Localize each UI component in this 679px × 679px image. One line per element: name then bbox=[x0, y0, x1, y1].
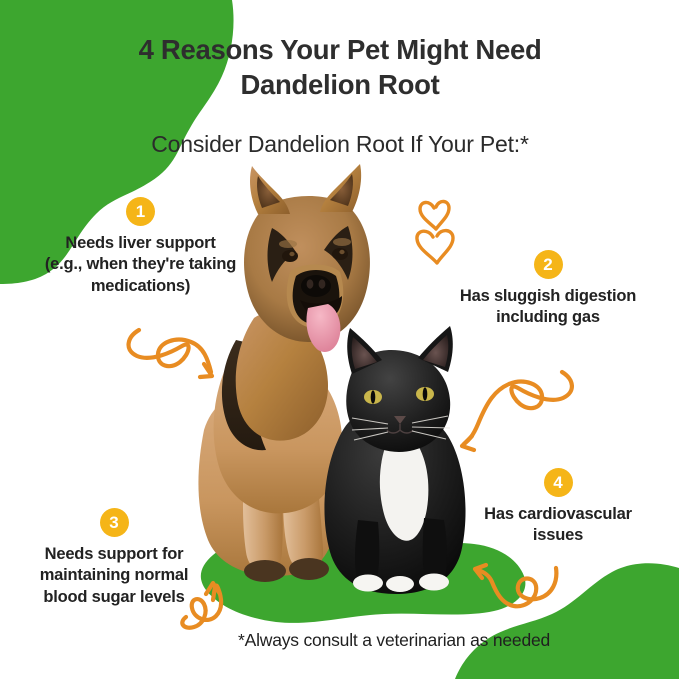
reason-text-2: Has sluggish digestion including gas bbox=[423, 286, 673, 329]
reason-item-1: 1 Needs liver support (e.g., when they'r… bbox=[8, 197, 273, 297]
reason-3-line-1: Needs support for bbox=[5, 544, 223, 565]
page-title: 4 Reasons Your Pet Might Need Dandelion … bbox=[50, 33, 630, 102]
infographic-poster: 4 Reasons Your Pet Might Need Dandelion … bbox=[0, 0, 679, 679]
reason-badge-2: 2 bbox=[534, 250, 563, 279]
reason-item-3: 3 Needs support for maintaining normal b… bbox=[5, 508, 223, 608]
reason-badge-4: 4 bbox=[544, 468, 573, 497]
page-subtitle: Consider Dandelion Root If Your Pet:* bbox=[50, 131, 630, 159]
reason-badge-3: 3 bbox=[100, 508, 129, 537]
reason-text-4: Has cardiovascular issues bbox=[452, 504, 664, 547]
reason-2-line-1: Has sluggish digestion bbox=[423, 286, 673, 307]
reason-4-line-1: Has cardiovascular bbox=[452, 504, 664, 525]
reason-item-4: 4 Has cardiovascular issues bbox=[452, 468, 664, 547]
cat-white-paw bbox=[386, 576, 414, 592]
reason-4-line-2: issues bbox=[452, 525, 664, 546]
reason-2-line-2: including gas bbox=[423, 307, 673, 328]
cat-white-paw bbox=[353, 575, 383, 592]
title-line-2: Dandelion Root bbox=[50, 68, 630, 103]
reason-item-2: 2 Has sluggish digestion including gas bbox=[423, 250, 673, 329]
veterinarian-disclaimer: *Always consult a veterinarian as needed bbox=[238, 630, 550, 651]
title-line-1: 4 Reasons Your Pet Might Need bbox=[50, 33, 630, 68]
reason-badge-1: 1 bbox=[126, 197, 155, 226]
reason-1-line-3: medications) bbox=[8, 276, 273, 297]
reason-1-line-1: Needs liver support bbox=[8, 233, 273, 254]
reason-1-line-2: (e.g., when they're taking bbox=[8, 254, 273, 275]
reason-text-3: Needs support for maintaining normal blo… bbox=[5, 544, 223, 608]
cat-white-paw bbox=[419, 574, 449, 591]
reason-3-line-3: blood sugar levels bbox=[5, 587, 223, 608]
tuxedo-cat bbox=[324, 326, 465, 594]
reason-3-line-2: maintaining normal bbox=[5, 565, 223, 586]
reason-text-1: Needs liver support (e.g., when they're … bbox=[8, 233, 273, 297]
